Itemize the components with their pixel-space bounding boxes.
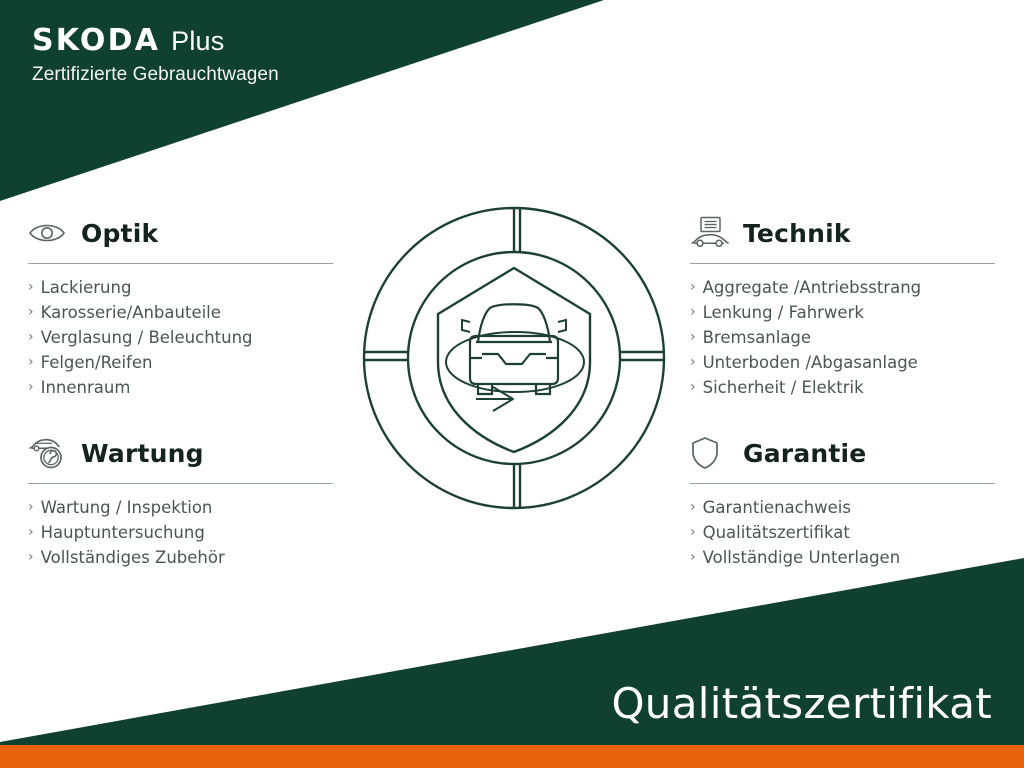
car-grille	[482, 354, 546, 364]
section-divider	[690, 263, 995, 264]
list-item-label: Lenkung / Fahrwerk	[703, 300, 864, 325]
section-divider	[690, 483, 995, 484]
list-item-label: Wartung / Inspektion	[41, 495, 213, 520]
list-item-label: Vollständiges Zubehör	[41, 545, 225, 570]
chevron-right-icon: ›	[690, 545, 696, 570]
certificate-page: SKODA Plus Zertifizierte Gebrauchtwagen …	[0, 0, 1024, 768]
car-wrench-icon	[28, 436, 68, 470]
section-header: Technik	[690, 213, 995, 253]
list-item-label: Bremsanlage	[703, 325, 811, 350]
section-divider	[28, 263, 333, 264]
list-item-label: Innenraum	[41, 375, 131, 400]
list-item: ›Garantienachweis	[690, 495, 995, 520]
list-item: ›Lackierung	[28, 275, 333, 300]
chevron-right-icon: ›	[28, 300, 34, 325]
list-item-label: Karosserie/Anbauteile	[41, 300, 221, 325]
brand-plus-label: Plus	[171, 28, 224, 55]
brand-row: SKODA Plus	[32, 26, 279, 56]
car-mirror-right	[558, 320, 566, 332]
section-list: ›Garantienachweis ›Qualitätszertifikat ›…	[690, 495, 995, 570]
chevron-right-icon: ›	[690, 375, 696, 400]
shield-outline	[438, 268, 590, 452]
list-item: ›Lenkung / Fahrwerk	[690, 300, 995, 325]
chevron-right-icon: ›	[28, 375, 34, 400]
list-item-label: Felgen/Reifen	[41, 350, 153, 375]
section-title: Wartung	[81, 439, 204, 468]
list-item: ›Sicherheit / Elektrik	[690, 375, 995, 400]
shield-icon	[690, 436, 730, 470]
chevron-right-icon: ›	[28, 325, 34, 350]
chevron-right-icon: ›	[28, 545, 34, 570]
section-optik: Optik ›Lackierung ›Karosserie/Anbauteile…	[28, 213, 333, 400]
list-item-label: Aggregate /Antriebsstrang	[703, 275, 922, 300]
list-item: ›Hauptuntersuchung	[28, 520, 333, 545]
list-item: ›Wartung / Inspektion	[28, 495, 333, 520]
inner-arc-bottom-left	[408, 358, 514, 464]
chevron-right-icon: ›	[690, 325, 696, 350]
section-wartung: Wartung ›Wartung / Inspektion ›Hauptunte…	[28, 433, 333, 570]
list-item-label: Lackierung	[41, 275, 132, 300]
chevron-right-icon: ›	[28, 275, 34, 300]
section-title: Technik	[743, 219, 851, 248]
section-title: Garantie	[743, 439, 866, 468]
inner-arc-bottom-right	[514, 358, 620, 464]
list-item-label: Verglasung / Beleuchtung	[41, 325, 253, 350]
list-item-label: Vollständige Unterlagen	[703, 545, 901, 570]
shield-car-ring-emblem	[358, 202, 670, 514]
list-item: ›Vollständiges Zubehör	[28, 545, 333, 570]
orange-accent-bar	[0, 745, 1024, 768]
list-item: ›Unterboden /Abgasanlage	[690, 350, 995, 375]
chevron-right-icon: ›	[690, 275, 696, 300]
brand-block: SKODA Plus Zertifizierte Gebrauchtwagen	[32, 26, 279, 84]
chevron-right-icon: ›	[690, 300, 696, 325]
list-item-label: Unterboden /Abgasanlage	[703, 350, 918, 375]
section-header: Garantie	[690, 433, 995, 473]
chevron-right-icon: ›	[690, 495, 696, 520]
list-item: ›Aggregate /Antriebsstrang	[690, 275, 995, 300]
footer-green-shape	[0, 558, 1024, 768]
section-technik: Technik ›Aggregate /Antriebsstrang ›Lenk…	[690, 213, 995, 400]
section-list: ›Wartung / Inspektion ›Hauptuntersuchung…	[28, 495, 333, 570]
list-item: ›Verglasung / Beleuchtung	[28, 325, 333, 350]
section-list: ›Aggregate /Antriebsstrang ›Lenkung / Fa…	[690, 275, 995, 400]
chevron-right-icon: ›	[28, 495, 34, 520]
section-title: Optik	[81, 219, 158, 248]
list-item: ›Karosserie/Anbauteile	[28, 300, 333, 325]
brand-tagline: Zertifizierte Gebrauchtwagen	[32, 65, 279, 84]
section-header: Wartung	[28, 433, 333, 473]
car-mirror-left	[462, 320, 470, 332]
skoda-wordmark: SKODA	[32, 26, 160, 56]
chevron-right-icon: ›	[690, 520, 696, 545]
section-divider	[28, 483, 333, 484]
list-item: ›Vollständige Unterlagen	[690, 545, 995, 570]
section-garantie: Garantie ›Garantienachweis ›Qualitätszer…	[690, 433, 995, 570]
car-document-icon	[690, 216, 730, 250]
list-item-label: Garantienachweis	[703, 495, 851, 520]
list-item-label: Sicherheit / Elektrik	[703, 375, 864, 400]
section-header: Optik	[28, 213, 333, 253]
chevron-right-icon: ›	[690, 350, 696, 375]
list-item: ›Innenraum	[28, 375, 333, 400]
list-item: ›Felgen/Reifen	[28, 350, 333, 375]
footer-title: Qualitätszertifikat	[611, 679, 992, 728]
list-item-label: Hauptuntersuchung	[41, 520, 205, 545]
list-item: ›Qualitätszertifikat	[690, 520, 995, 545]
list-item: ›Bremsanlage	[690, 325, 995, 350]
section-list: ›Lackierung ›Karosserie/Anbauteile ›Verg…	[28, 275, 333, 400]
eye-icon	[28, 216, 68, 250]
chevron-right-icon: ›	[28, 350, 34, 375]
chevron-right-icon: ›	[28, 520, 34, 545]
car-body	[470, 336, 558, 384]
list-item-label: Qualitätszertifikat	[703, 520, 850, 545]
